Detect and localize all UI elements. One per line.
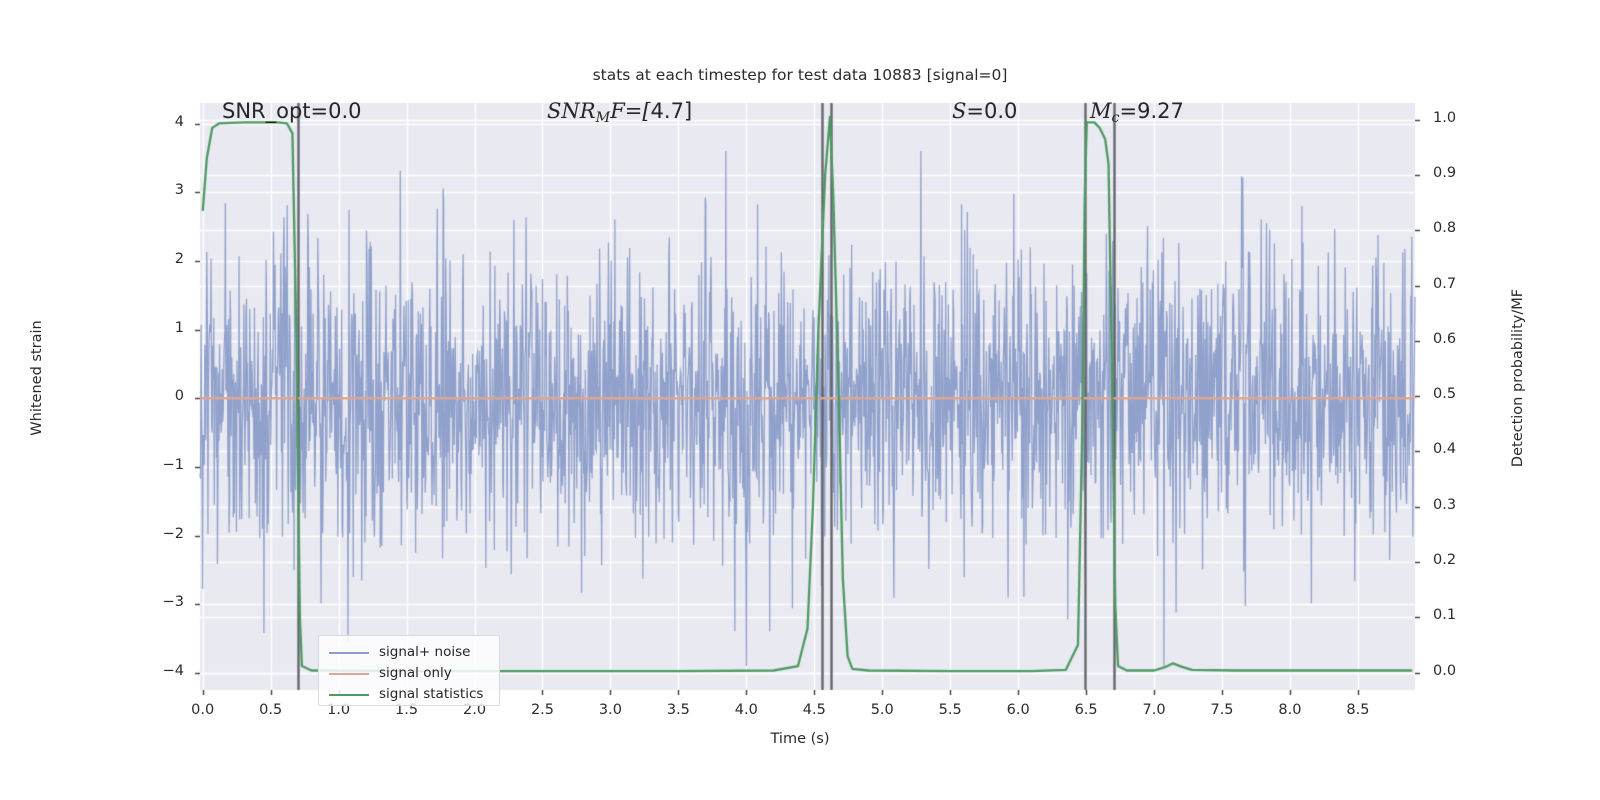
annotation-snr-mf-value: 4.7 [651, 99, 684, 123]
y-tick-right: 0.8 [1433, 220, 1479, 236]
annotation-mc-value: 9.27 [1137, 99, 1184, 123]
legend-swatch [329, 673, 369, 675]
x-tick: 3.5 [651, 702, 705, 718]
annotation-snr-mf-suffix: ] [684, 99, 692, 123]
y-axis-label-left: Whitened strain [29, 278, 45, 478]
annotation-snr-mf-subscript: M [596, 110, 611, 126]
legend: signal+ noisesignal onlysignal statistic… [318, 635, 500, 706]
annotation-snr-mf-mid: F=[ [610, 99, 650, 123]
x-tick: 7.0 [1127, 702, 1181, 718]
x-tick: 4.0 [719, 702, 773, 718]
legend-label: signal+ noise [379, 644, 470, 660]
y-tick-right: 0.9 [1433, 165, 1479, 181]
y-tick-right: 0.0 [1433, 663, 1479, 679]
annotation-s-mid: = [966, 99, 984, 123]
y-tick-left: 1 [142, 320, 184, 336]
y-tick-right: 0.7 [1433, 276, 1479, 292]
x-tick: 0.0 [176, 702, 230, 718]
legend-label: signal statistics [379, 686, 483, 702]
y-tick-left: 2 [142, 251, 184, 267]
x-tick: 5.5 [923, 702, 977, 718]
y-tick-left: −3 [142, 594, 184, 610]
annotation-chirp-mass: Mc=9.27 [1090, 99, 1184, 126]
annotation-mc-mid: = [1120, 99, 1138, 123]
y-tick-left: −1 [142, 457, 184, 473]
x-tick: 5.0 [855, 702, 909, 718]
x-tick: 2.5 [515, 702, 569, 718]
y-axis-label-right: Detection probability/MF [1510, 258, 1526, 498]
x-tick: 7.5 [1195, 702, 1249, 718]
page-title: stats at each timestep for test data 108… [0, 66, 1600, 84]
y-tick-left: −4 [142, 663, 184, 679]
y-tick-right: 0.4 [1433, 441, 1479, 457]
annotation-mc-subscript: c [1112, 110, 1120, 126]
y-tick-right: 0.6 [1433, 331, 1479, 347]
y-tick-left: 0 [142, 388, 184, 404]
x-tick: 8.0 [1263, 702, 1317, 718]
x-tick: 8.5 [1331, 702, 1385, 718]
annotation-mc-prefix: M [1090, 99, 1112, 123]
x-tick: 4.5 [787, 702, 841, 718]
x-tick: 6.0 [991, 702, 1045, 718]
y-tick-right: 1.0 [1433, 110, 1479, 126]
x-axis-label: Time (s) [0, 731, 1600, 747]
x-tick: 3.0 [583, 702, 637, 718]
x-tick: 6.5 [1059, 702, 1113, 718]
annotation-snr-opt: SNR_opt=0.0 [222, 99, 362, 123]
y-tick-left: −2 [142, 526, 184, 542]
y-tick-right: 0.2 [1433, 552, 1479, 568]
legend-swatch [329, 694, 369, 696]
y-tick-right: 0.3 [1433, 497, 1479, 513]
x-tick: 0.5 [244, 702, 298, 718]
legend-label: signal only [379, 665, 452, 681]
annotation-s-prefix: S [952, 99, 966, 123]
y-tick-left: 4 [142, 114, 184, 130]
y-tick-right: 0.5 [1433, 386, 1479, 402]
annotation-s-stat: S=0.0 [952, 99, 1017, 123]
annotation-s-value: 0.0 [984, 99, 1017, 123]
figure-container: stats at each timestep for test data 108… [0, 0, 1600, 800]
annotation-snr-mf: SNRMF=[4.7] [547, 99, 692, 126]
legend-swatch [329, 652, 369, 654]
y-tick-right: 0.1 [1433, 607, 1479, 623]
annotation-snr-mf-prefix: SNR [547, 99, 596, 123]
y-tick-left: 3 [142, 182, 184, 198]
